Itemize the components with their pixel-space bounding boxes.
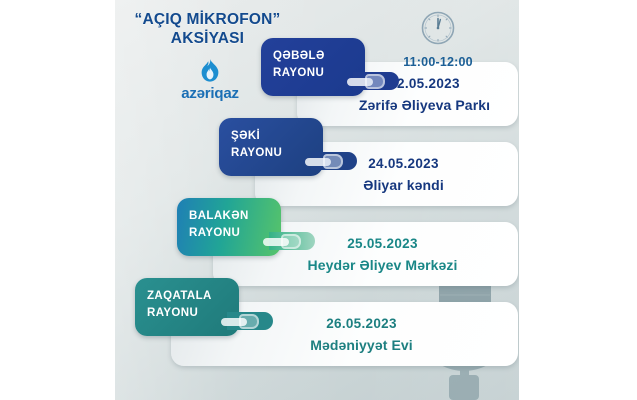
region-name-line-1: ŞƏKİ (231, 128, 323, 145)
event-date: 25.05.2023 (347, 236, 418, 251)
connector-icon (347, 74, 387, 89)
schedule-row: 25.05.2023 Heydər Əliyev Mərkəzi BALAKƏN… (115, 198, 519, 278)
event-date: 24.05.2023 (368, 156, 439, 171)
connector-icon (305, 154, 345, 169)
region-tab[interactable]: BALAKƏN RAYONU (177, 198, 281, 256)
page-title: “AÇIQ MİKROFON” AKSİYASI (115, 10, 300, 48)
event-venue: Zərifə Əliyeva Parkı (359, 97, 490, 113)
region-tab[interactable]: ZAQATALA RAYONU (135, 278, 239, 336)
clock-icon (383, 8, 493, 53)
region-tab[interactable]: ŞƏKİ RAYONU (219, 118, 323, 176)
event-venue: Əliyar kəndi (363, 177, 444, 193)
event-venue: Mədəniyyət Evi (310, 337, 413, 353)
schedule-time: 11:00-12:00 (383, 8, 493, 69)
brand-name: azəriqaz (135, 85, 285, 102)
title-line-2: AKSİYASI (115, 29, 300, 48)
connector-icon (221, 314, 261, 329)
event-venue: Heydər Əliyev Mərkəzi (307, 257, 457, 273)
flame-icon (135, 58, 285, 84)
connector-icon (263, 234, 303, 249)
region-name-line-1: ZAQATALA (147, 288, 239, 305)
region-name-line-1: BALAKƏN (189, 208, 281, 225)
brand-logo: azəriqaz (135, 58, 285, 102)
title-line-1: “AÇIQ MİKROFON” (115, 10, 300, 29)
schedule-row: 26.05.2023 Mədəniyyət Evi ZAQATALA RAYON… (115, 278, 519, 358)
region-name-line-1: QƏBƏLƏ (273, 48, 365, 65)
schedule-row: 24.05.2023 Əliyar kəndi ŞƏKİ RAYONU (115, 118, 519, 198)
time-range-label: 11:00-12:00 (383, 55, 493, 69)
event-date: 26.05.2023 (326, 316, 397, 331)
poster-canvas: “AÇIQ MİKROFON” AKSİYASI azəriqaz (115, 0, 519, 400)
event-date: 22.05.2023 (389, 76, 460, 91)
